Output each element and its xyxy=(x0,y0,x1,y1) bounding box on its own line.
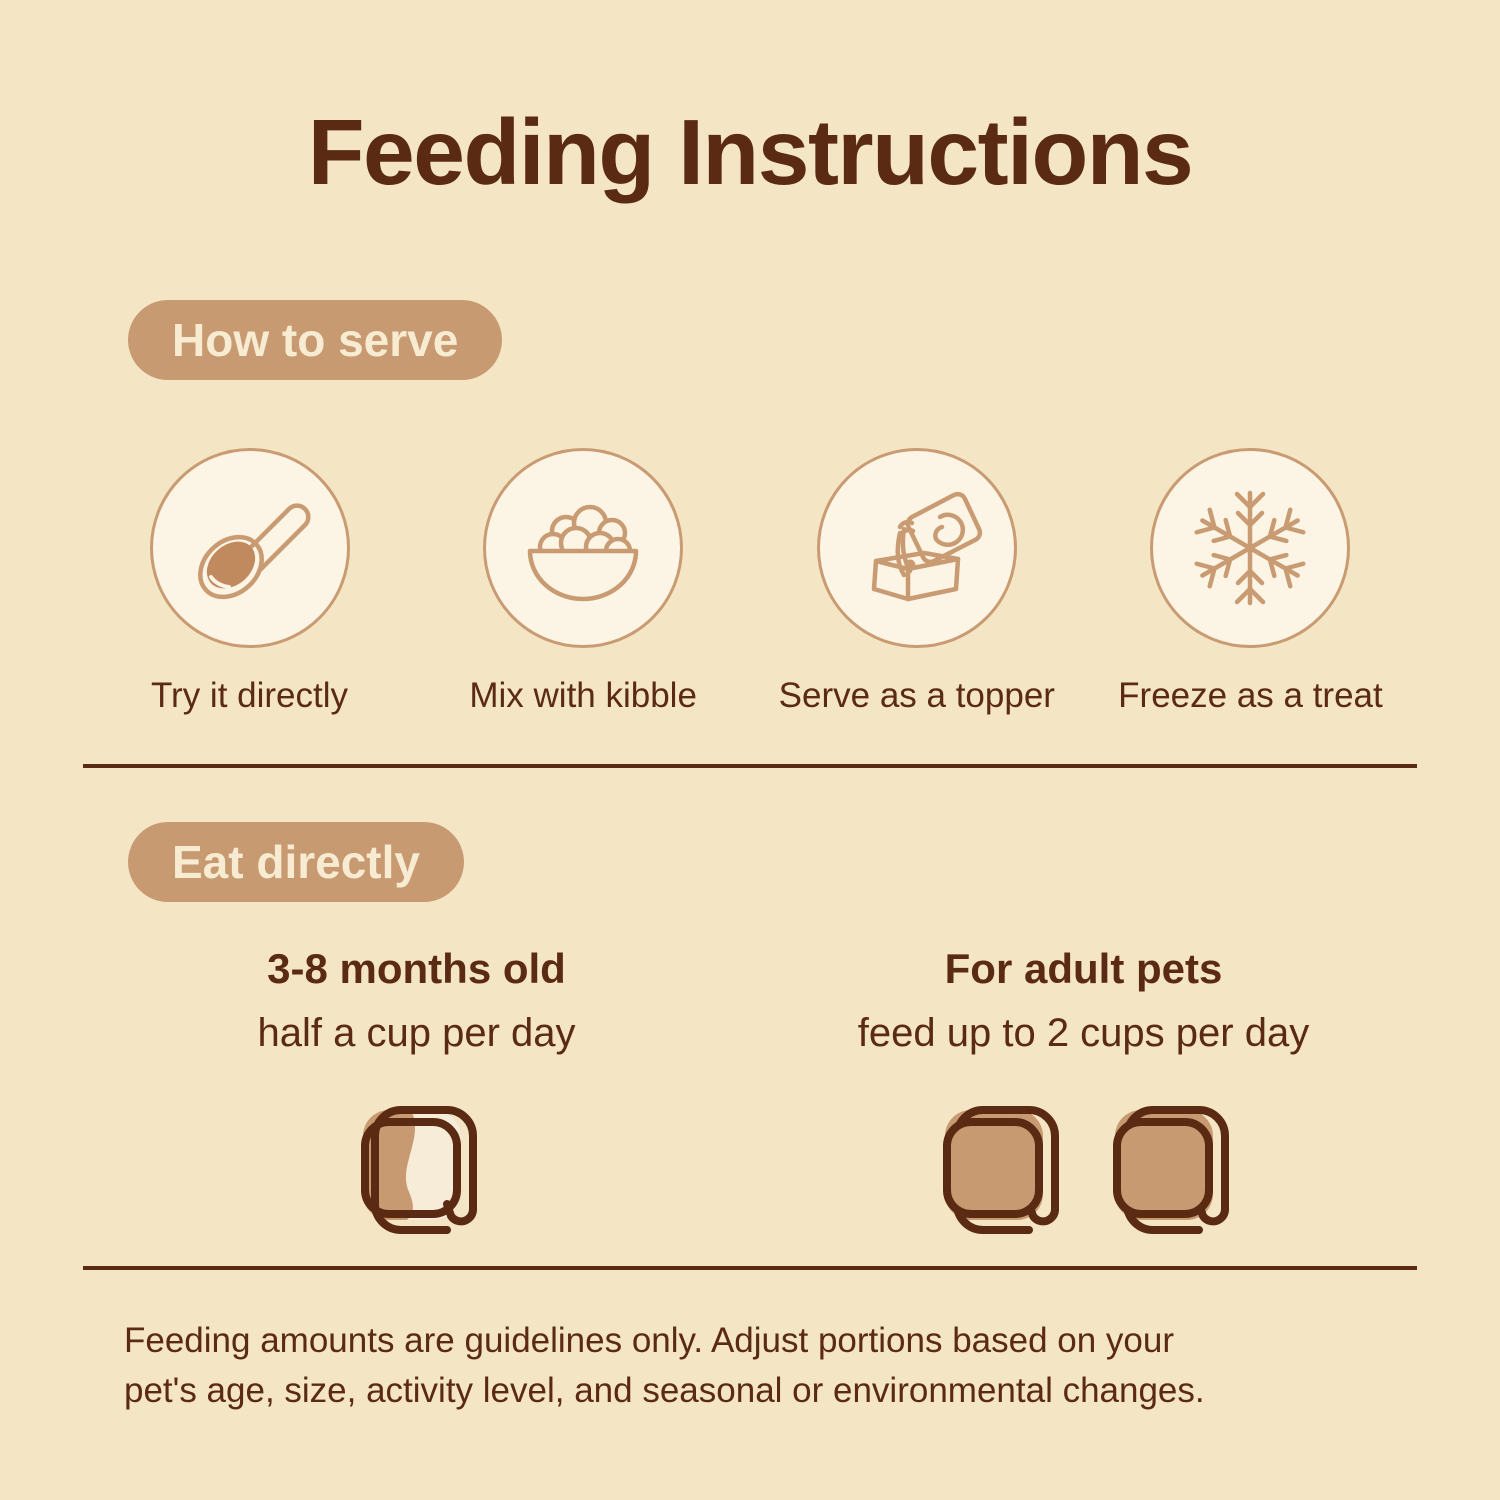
feeding-heading: For adult pets xyxy=(945,945,1223,993)
spoon-icon xyxy=(175,473,325,623)
serving-method-label: Freeze as a treat xyxy=(1118,676,1383,716)
serving-method-label: Try it directly xyxy=(151,676,348,716)
serving-method-label: Serve as a topper xyxy=(779,676,1055,716)
feeding-disclaimer: Feeding amounts are guidelines only. Adj… xyxy=(124,1316,1394,1415)
serving-method-mix-with-kibble: Mix with kibble xyxy=(417,448,750,716)
feeding-amount: feed up to 2 cups per day xyxy=(858,1011,1309,1056)
kibble-bowl-icon xyxy=(508,473,658,623)
serving-methods-row: Try it directly xyxy=(83,448,1417,716)
pouch-group-adult xyxy=(929,1092,1239,1242)
feeding-instructions-page: Feeding Instructions How to serve xyxy=(0,0,1500,1500)
feeding-amounts-row: 3-8 months old half a cup per day xyxy=(83,945,1417,1242)
page-title: Feeding Instructions xyxy=(0,104,1500,202)
serving-method-try-it-directly: Try it directly xyxy=(83,448,416,716)
serving-method-freeze-as-a-treat: Freeze as a treat xyxy=(1084,448,1417,716)
disclaimer-line-1: Feeding amounts are guidelines only. Adj… xyxy=(124,1316,1394,1366)
disclaimer-line-2: pet's age, size, activity level, and sea… xyxy=(124,1366,1394,1416)
serving-method-label: Mix with kibble xyxy=(469,676,697,716)
pouch-half-icon xyxy=(347,1092,487,1242)
feeding-amount: half a cup per day xyxy=(258,1011,576,1056)
section-badge-how-to-serve: How to serve xyxy=(128,300,502,380)
divider-top xyxy=(83,764,1417,768)
pouch-full-icon xyxy=(1099,1092,1239,1242)
icon-circle-kibble-bowl xyxy=(483,448,683,648)
section-badge-eat-directly: Eat directly xyxy=(128,822,464,902)
divider-bottom xyxy=(83,1266,1417,1270)
icon-circle-pouch-pour xyxy=(817,448,1017,648)
snowflake-icon xyxy=(1175,473,1325,623)
pouch-pour-icon xyxy=(842,473,992,623)
icon-circle-snowflake xyxy=(1150,448,1350,648)
pouch-full-icon xyxy=(929,1092,1069,1242)
feeding-heading: 3-8 months old xyxy=(267,945,566,993)
icon-circle-spoon xyxy=(150,448,350,648)
pouch-group-young xyxy=(347,1092,487,1242)
serving-method-serve-as-a-topper: Serve as a topper xyxy=(750,448,1083,716)
feeding-column-adult: For adult pets feed up to 2 cups per day xyxy=(750,945,1417,1242)
feeding-column-young: 3-8 months old half a cup per day xyxy=(83,945,750,1242)
